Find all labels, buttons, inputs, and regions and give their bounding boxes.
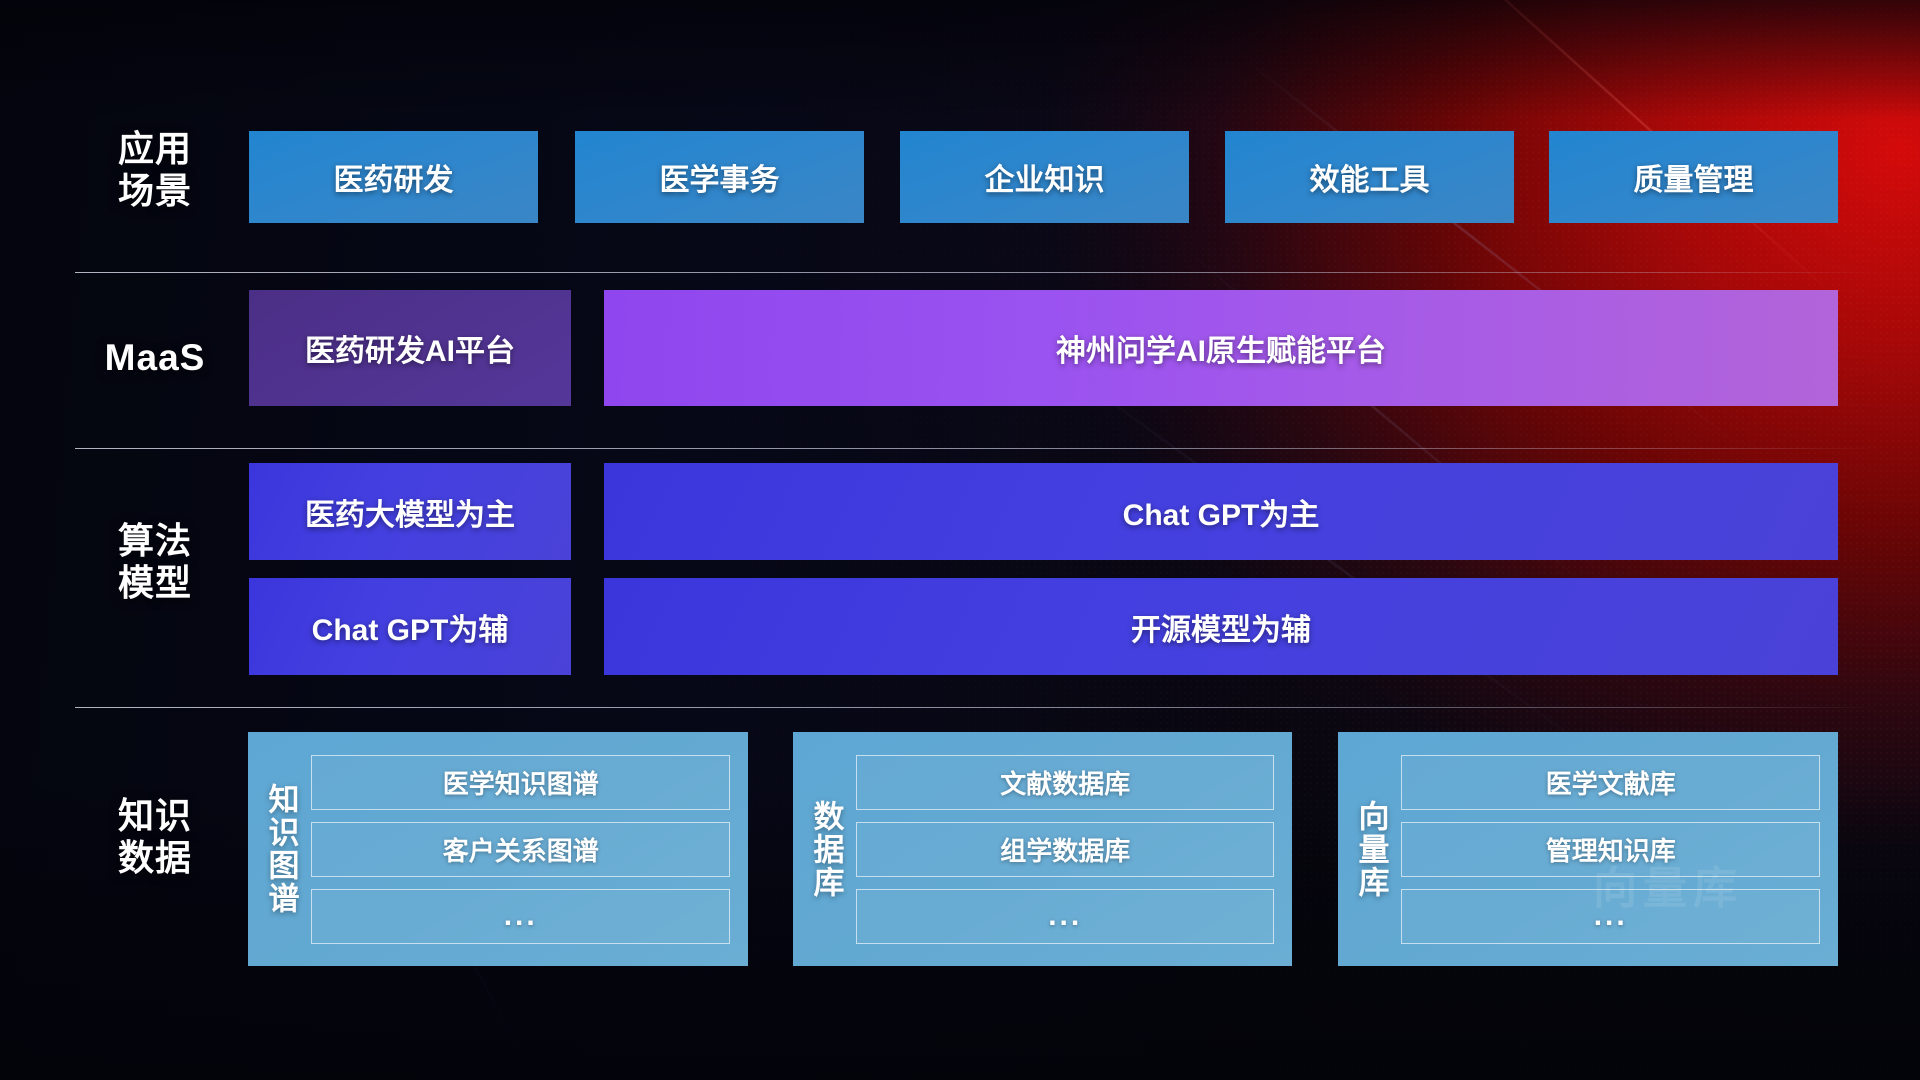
app-card-medicine-rnd[interactable]: 医药研发: [249, 131, 538, 223]
row-label-maas: MaaS: [75, 336, 235, 380]
data-panel-vector-store[interactable]: 向量库 向量库 医学文献库 管理知识库 ...: [1338, 732, 1838, 966]
data-chip-more[interactable]: ...: [856, 889, 1274, 944]
data-panel-knowledge-graph[interactable]: 知识图谱 医学知识图谱 客户关系图谱 ...: [248, 732, 748, 966]
algo-card-medicine-llm-primary[interactable]: 医药大模型为主: [249, 463, 571, 560]
data-panel-items: 医学文献库 管理知识库 ...: [1401, 746, 1820, 952]
row-label-line: 应用: [75, 128, 235, 170]
data-panel-label: 向量库: [1354, 800, 1387, 899]
algo-card-chatgpt-primary[interactable]: Chat GPT为主: [604, 463, 1838, 560]
app-card-efficiency-tools[interactable]: 效能工具: [1225, 131, 1514, 223]
architecture-stack: 应用 场景 医药研发 医学事务 企业知识 效能工具 质量管理 MaaS 医药研发…: [0, 0, 1920, 1080]
data-panel-database[interactable]: 数据库 文献数据库 组学数据库 ...: [793, 732, 1292, 966]
data-chip[interactable]: 管理知识库: [1401, 822, 1820, 877]
slide-canvas: 应用 场景 医药研发 医学事务 企业知识 效能工具 质量管理 MaaS 医药研发…: [0, 0, 1920, 1080]
app-card-quality-management[interactable]: 质量管理: [1549, 131, 1838, 223]
data-panel-label: 知识图谱: [264, 783, 297, 915]
maas-card-medicine-ai-platform[interactable]: 医药研发AI平台: [249, 290, 571, 406]
data-chip-more[interactable]: ...: [1401, 889, 1820, 944]
row-label-line: 算法: [75, 520, 235, 562]
row-label-line: 知识: [75, 795, 235, 837]
row-label-knowledge-data: 知识 数据: [75, 795, 235, 880]
data-panel-items: 文献数据库 组学数据库 ...: [856, 746, 1274, 952]
row-label-algorithm-model: 算法 模型: [75, 520, 235, 605]
data-chip[interactable]: 医学文献库: [1401, 755, 1820, 810]
row-divider: [75, 272, 1878, 273]
data-chip[interactable]: 组学数据库: [856, 822, 1274, 877]
data-chip[interactable]: 客户关系图谱: [311, 822, 730, 877]
algo-card-opensource-secondary[interactable]: 开源模型为辅: [604, 578, 1838, 675]
row-label-application-scenarios: 应用 场景: [75, 128, 235, 213]
data-chip-more[interactable]: ...: [311, 889, 730, 944]
row-label-line: 场景: [75, 170, 235, 212]
app-card-enterprise-knowledge[interactable]: 企业知识: [900, 131, 1189, 223]
algo-card-chatgpt-secondary[interactable]: Chat GPT为辅: [249, 578, 571, 675]
row-divider: [75, 448, 1878, 449]
maas-card-shenzhou-platform[interactable]: 神州问学AI原生赋能平台: [604, 290, 1838, 406]
row-divider: [75, 707, 1878, 708]
data-panel-items: 医学知识图谱 客户关系图谱 ...: [311, 746, 730, 952]
row-label-line: 模型: [75, 562, 235, 604]
row-label-line: MaaS: [75, 336, 235, 380]
data-chip[interactable]: 医学知识图谱: [311, 755, 730, 810]
data-panel-label: 数据库: [809, 800, 842, 899]
data-chip[interactable]: 文献数据库: [856, 755, 1274, 810]
app-card-medical-affairs[interactable]: 医学事务: [575, 131, 864, 223]
row-label-line: 数据: [75, 837, 235, 879]
